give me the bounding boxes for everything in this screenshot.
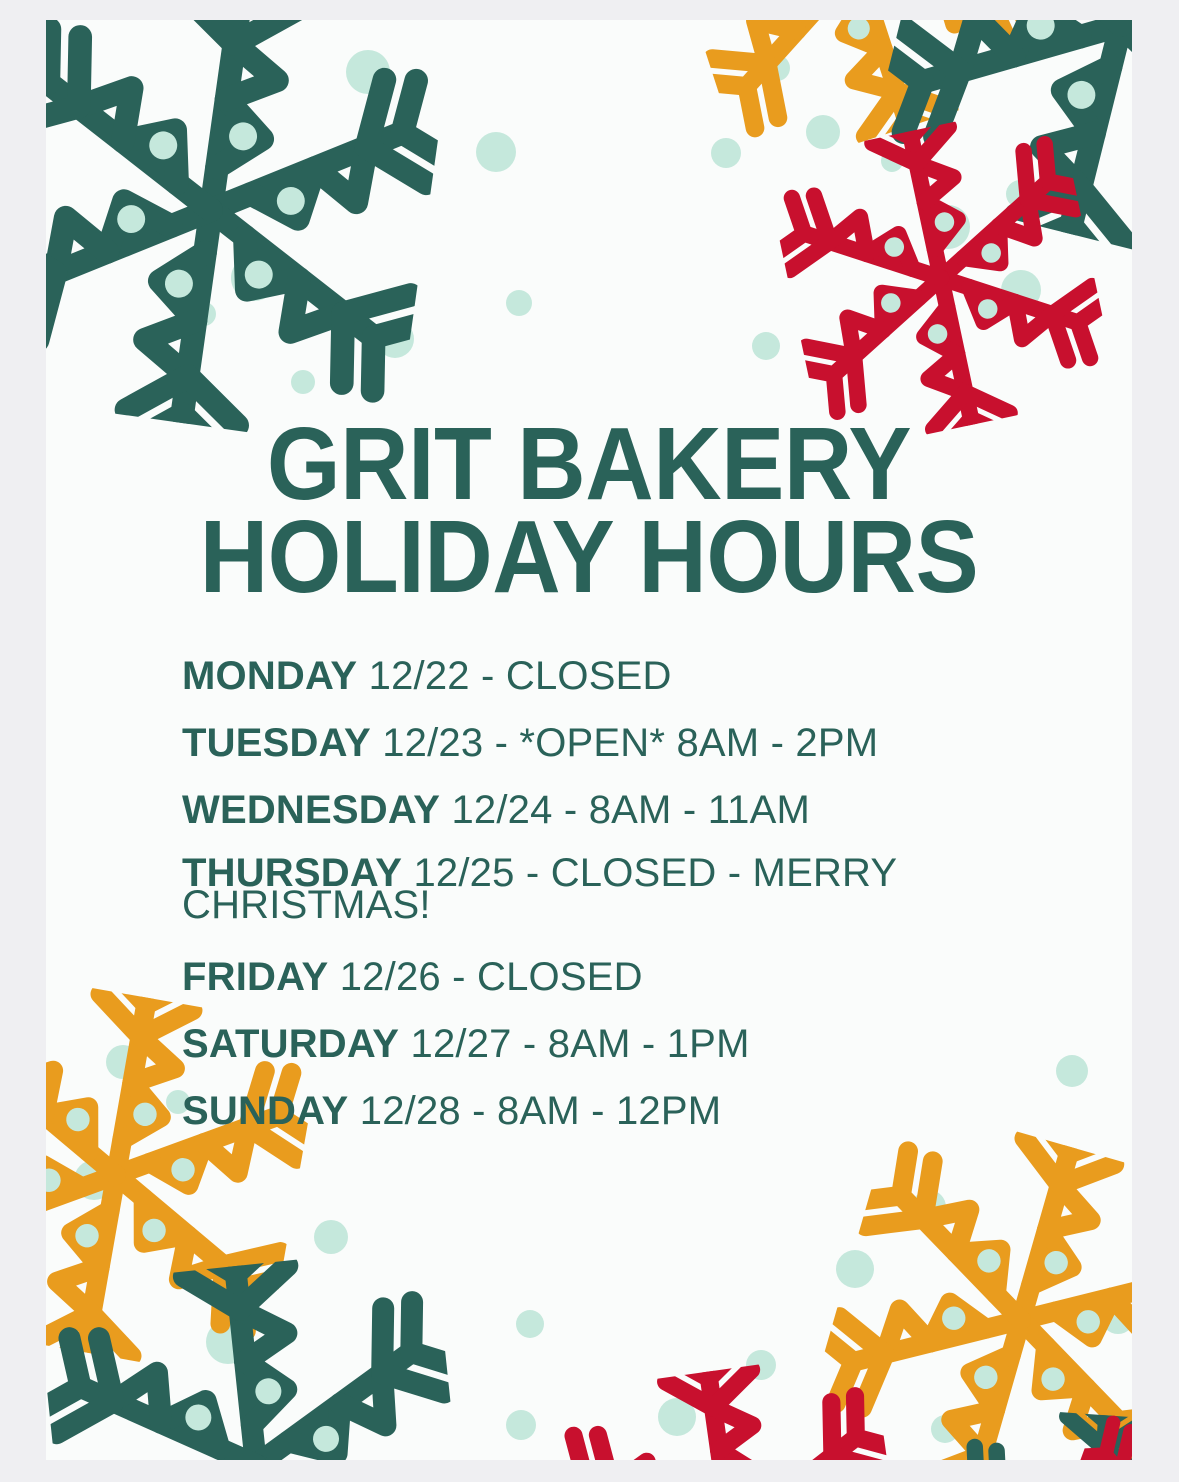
day-hours-text: 12/22 - CLOSED	[357, 654, 671, 698]
hours-row-wednesday: WEDNESDAY 12/24 - 8AM - 11AM	[182, 790, 1012, 830]
hours-row-friday: FRIDAY 12/26 - CLOSED	[182, 957, 1012, 997]
hours-row-monday: MONDAY 12/22 - CLOSED	[182, 656, 1012, 696]
day-label: MONDAY	[182, 654, 357, 698]
hours-row-tuesday: TUESDAY 12/23 - *OPEN* 8AM - 2PM	[182, 723, 1012, 763]
day-label: FRIDAY	[182, 955, 328, 999]
day-label: WEDNESDAY	[182, 788, 440, 832]
day-hours-text: 12/23 - *OPEN* 8AM - 2PM	[371, 721, 878, 765]
flyer-page: GRIT BAKERY HOLIDAY HOURS MONDAY 12/22 -…	[46, 20, 1132, 1460]
day-label: SUNDAY	[182, 1089, 348, 1133]
poster-root: GRIT BAKERY HOLIDAY HOURS MONDAY 12/22 -…	[0, 0, 1179, 1482]
poster-content: GRIT BAKERY HOLIDAY HOURS MONDAY 12/22 -…	[46, 20, 1132, 1460]
hours-row-saturday: SATURDAY 12/27 - 8AM - 1PM	[182, 1024, 1012, 1064]
day-hours-text: 12/28 - 8AM - 12PM	[348, 1089, 721, 1133]
day-hours-text: 12/27 - 8AM - 1PM	[399, 1022, 749, 1066]
day-hours-text: 12/26 - CLOSED	[328, 955, 642, 999]
hours-row-thursday: THURSDAY 12/25 - CLOSED - MERRY CHRISTMA…	[182, 857, 1012, 921]
day-label: TUESDAY	[182, 721, 371, 765]
day-hours-text: 12/24 - 8AM - 11AM	[440, 788, 810, 832]
page-title: GRIT BAKERY HOLIDAY HOURS	[89, 418, 1088, 603]
holiday-hours-list: MONDAY 12/22 - CLOSEDTUESDAY 12/23 - *OP…	[182, 656, 1012, 1158]
hours-row-sunday: SUNDAY 12/28 - 8AM - 12PM	[182, 1091, 1012, 1131]
day-label: SATURDAY	[182, 1022, 399, 1066]
